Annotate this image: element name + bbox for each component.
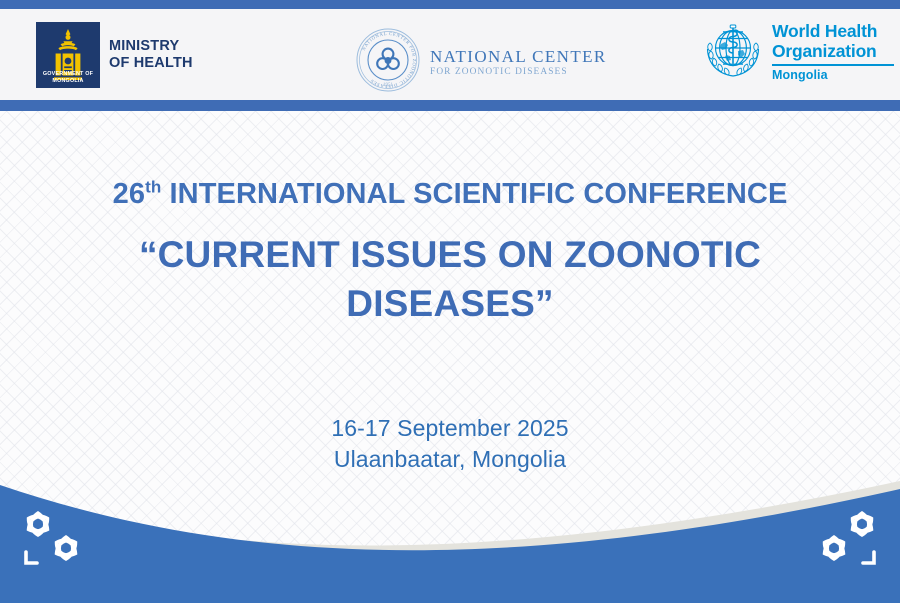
title-block: 26th INTERNATIONAL SCIENTIFIC CONFERENCE… (0, 176, 900, 328)
triquetra-knot-ornament-right (806, 502, 886, 579)
conference-heading-text: INTERNATIONAL SCIENTIFIC CONFERENCE (170, 178, 788, 210)
triquetra-knot-ornament-left (14, 502, 94, 579)
conference-ordinal: 26 (113, 178, 145, 210)
who-emblem-icon (702, 20, 764, 87)
seal-year: 1951 (383, 83, 394, 88)
event-dates: 16-17 September 2025 (0, 413, 900, 444)
ministry-of-health-label: MINISTRY OF HEALTH (109, 38, 193, 72)
ministry-of-health-logo: GOVERNMENT OF MONGOLIA MINISTRY OF HEALT… (36, 22, 193, 88)
who-label: World Health Organization Mongolia (772, 20, 894, 81)
ministry-emblem-caption: GOVERNMENT OF MONGOLIA (36, 71, 100, 85)
header-divider-bar (0, 100, 900, 111)
conference-theme-line-2: DISEASES” (0, 279, 900, 328)
soyombo-emblem-icon: GOVERNMENT OF MONGOLIA (36, 22, 100, 88)
conference-theme: “CURRENT ISSUES ON ZOONOTIC DISEASES” (0, 230, 900, 328)
conference-ordinal-suffix: th (145, 177, 161, 196)
conference-theme-line-1: “CURRENT ISSUES ON ZOONOTIC (0, 230, 900, 279)
top-accent-stripe (0, 0, 900, 9)
conference-heading: 26th INTERNATIONAL SCIENTIFIC CONFERENCE (0, 176, 900, 212)
who-underline (772, 64, 894, 66)
national-center-logo: NATIONAL CENTER FOR ZOONOTIC DISEASES 19… (352, 24, 607, 101)
who-logo: World Health Organization Mongolia (702, 20, 894, 87)
zoonotic-seal-icon: NATIONAL CENTER FOR ZOONOTIC DISEASES 19… (352, 24, 424, 101)
national-center-label: NATIONAL CENTER FOR ZOONOTIC DISEASES (430, 48, 607, 77)
conference-title-slide: GOVERNMENT OF MONGOLIA MINISTRY OF HEALT… (0, 0, 900, 603)
footer-wave-band (0, 463, 900, 603)
